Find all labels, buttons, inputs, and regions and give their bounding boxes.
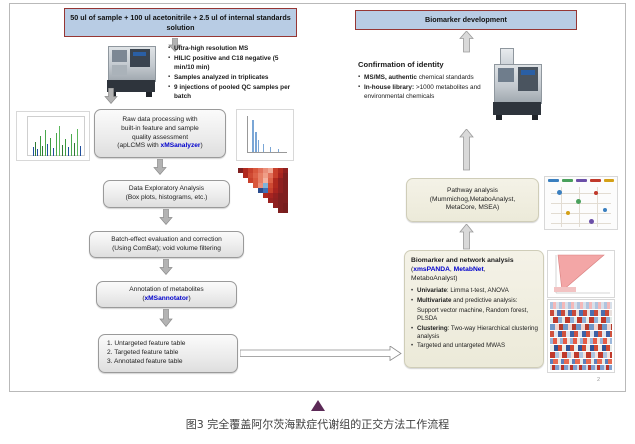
confirmation-of-identity-block: Confirmation of identity ▪MS/MS, authent… [358,60,494,102]
arrow-right-to-biomarker-analysis [240,346,402,361]
confirmation-bullet-rest: chemical standards [419,74,474,81]
biomarker-title-text: Biomarker and network analysis [411,257,514,264]
step-line-2: (Box plots, histograms, etc.) [126,194,208,203]
left-banner: 50 ul of sample + 100 ul acetonitrile + … [64,8,297,37]
biomarker-title: Biomarker and network analysis (xmsPANDA… [411,256,514,283]
pathway-line-1: Pathway analysis [447,187,498,196]
arrow-up-to-biomarker-banner [459,31,474,53]
analysis-bullet-rest: Support vector machine, Random forest, P… [417,307,538,323]
feature-table-item: 3. Annotated feature table [107,358,183,367]
step-line-3: quality assessment [132,134,188,143]
tool-suffix: ) [201,142,203,149]
surface-plot-image [16,111,90,161]
chromatogram-image [236,109,294,161]
arrow-down-to-annotation [159,259,173,275]
arrow-down-to-eda [153,159,167,175]
list-item: ▪Ultra-high resolution MS [168,44,298,53]
caption-triangle-marker [311,400,325,411]
confirmation-bullet-bold: In-house library: [364,84,414,91]
step-annotation-of-metabolites[interactable]: Annotation of metabolites (xMSannotator) [96,281,237,308]
feature-tables-box[interactable]: 1. Untargeted feature table 2. Targeted … [98,334,238,373]
list-item: Support vector machine, Random forest, P… [411,307,538,323]
step-raw-data-processing[interactable]: Raw data processing with built-in featur… [94,109,226,158]
tool-sep-2: , [484,266,486,273]
feature-table-item: 2. Targeted feature table [107,349,178,358]
step-line-1: Raw data processing with [122,116,197,125]
pathway-line-2: (Mummichog,MetaboAnalyst, [430,196,515,205]
tool-metaboanalyst: MetaboAnalyst) [411,275,457,282]
figure-caption: 图3 完全覆盖阿尔茨海默症代谢组的正交方法工作流程 [0,396,635,444]
tool-xmspanda: xmsPANDA [413,266,450,273]
analysis-bullet-bold: Clustering [417,325,448,332]
step-line-2: (xMSannotator) [142,295,190,304]
step-batch-effect-evaluation[interactable]: Batch-effect evaluation and correction (… [89,231,244,258]
arrow-down-to-raw-processing [104,88,118,104]
correlation-triangle-image [238,168,290,216]
slide-canvas: 50 ul of sample + 100 ul acetonitrile + … [0,0,635,396]
step-line-1: Batch-effect evaluation and correction [111,236,222,245]
analysis-bullet-bold: Multivariate [417,297,451,304]
page-number: 2 [597,377,600,383]
list-item: ▪9 injections of pooled QC samples per b… [168,83,298,101]
step-data-exploratory-analysis[interactable]: Data Exploratory Analysis (Box plots, hi… [103,180,230,208]
caption-text: 图3 完全覆盖阿尔茨海默症代谢组的正交方法工作流程 [0,416,635,432]
list-item: ▪In-house library: >1000 metabolites and… [358,83,494,101]
pathway-line-3: MetaCore, MSEA) [446,204,500,213]
list-item: ▪Samples analyzed in triplicates [168,73,298,82]
mass-spectrometer-image-2 [494,48,544,120]
analysis-bullet-rest: : Limma t-test, ANOVA [447,287,509,294]
biomarker-network-analysis-box[interactable]: Biomarker and network analysis (xmsPANDA… [404,250,544,368]
arrow-down-to-batch-effect [159,209,173,225]
step-pathway-analysis[interactable]: Pathway analysis (Mummichog,MetaboAnalys… [406,178,539,222]
tool-xmsanalyzer: xMSanalyzer [161,142,201,149]
step-line-1: Data Exploratory Analysis [129,185,204,194]
step-line-2: (Using ComBat); void volume filtering [112,245,221,254]
tool-metabnet: MetabNet [454,266,484,273]
right-banner: Biomarker development [355,10,577,30]
step-line-1: Annotation of metabolites [129,286,203,295]
tool-xmsannotator: xMSannotator [145,295,189,302]
list-item: •Targeted and untargeted MWAS [411,342,505,351]
pathway-network-map-image [544,176,618,230]
analysis-bullet-rest: Targeted and untargeted MWAS [417,342,505,351]
tool-prefix: (apLCMS with [117,142,160,149]
list-item: ▪HILIC positive and C18 negative (5 min/… [168,54,298,72]
list-item: ▪MS/MS, authentic chemical standards [358,73,494,82]
arrow-up-to-confirmation [459,129,474,171]
clustered-heatmap-image [547,299,615,373]
analysis-bullet-bold: Univariate [417,287,447,294]
ms-method-bullets: ▪Ultra-high resolution MS ▪HILIC positiv… [168,44,298,103]
pls-score-plot-image [547,250,615,298]
step-line-4: (apLCMS with xMSanalyzer) [117,142,202,151]
feature-table-item: 1. Untargeted feature table [107,340,185,349]
list-item: •Univariate: Limma t-test, ANOVA [411,287,509,296]
tool-suffix: ) [188,295,190,302]
list-item: •Clustering: Two-way Hierarchical cluste… [411,325,538,341]
arrow-down-to-feature-tables [159,309,173,327]
arrow-up-to-pathway [459,224,474,250]
step-line-2: built-in feature and sample [121,125,199,134]
analysis-bullet-rest: and predictive analysis: [451,297,517,304]
confirmation-heading: Confirmation of identity [358,60,494,71]
confirmation-bullet-bold: MS/MS, authentic [364,74,417,81]
list-item: •Multivariate and predictive analysis: [411,297,517,306]
